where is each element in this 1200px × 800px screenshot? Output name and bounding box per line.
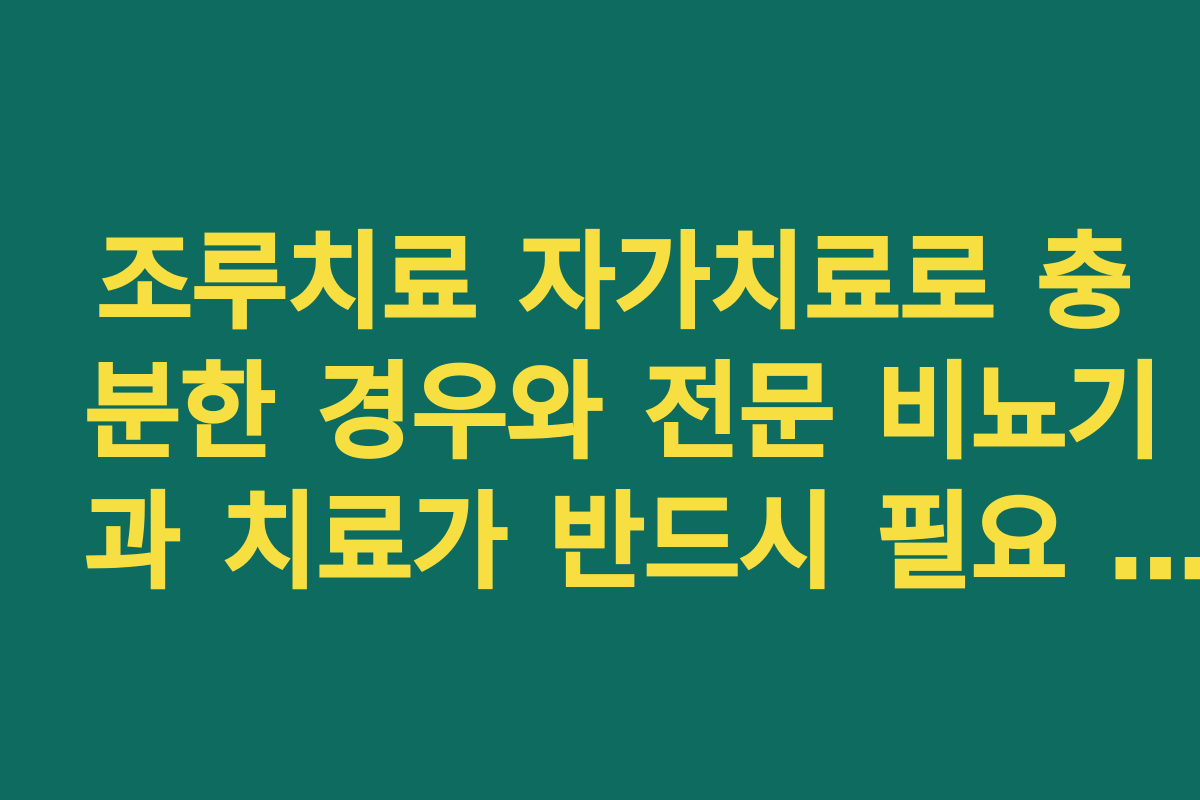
headline-line-1: 조루치료 자가치료로 충: [85, 217, 1128, 347]
truncation-ellipsis: …: [1108, 481, 1200, 603]
text-card: 조루치료 자가치료로 충 분한 경우와 전문 비뇨기 과 치료가 반드시 필요 …: [0, 0, 1200, 800]
headline-text-block: 조루치료 자가치료로 충 분한 경우와 전문 비뇨기 과 치료가 반드시 필요 …: [85, 217, 1128, 607]
headline-line-2: 분한 경우와 전문 비뇨기: [85, 347, 1128, 477]
headline-line-3: 과 치료가 반드시 필요 …: [85, 477, 1128, 607]
headline-line-3-text: 과 치료가 반드시 필요: [85, 481, 1108, 603]
